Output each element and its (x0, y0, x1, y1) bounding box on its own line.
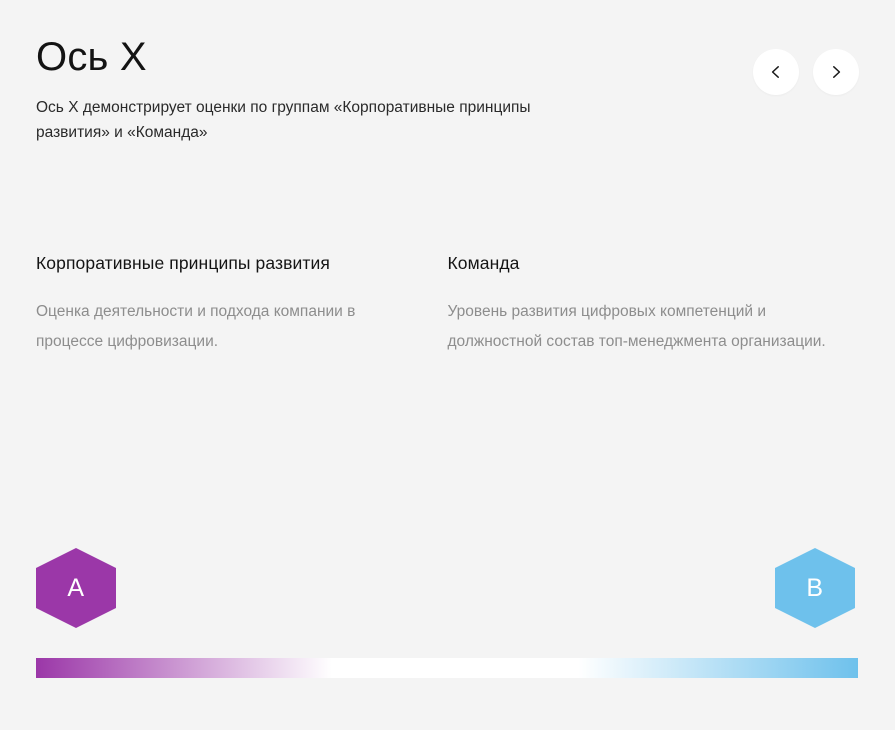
marker-label: B (806, 576, 823, 601)
chevron-right-icon (828, 64, 844, 80)
marker-hexagon-b: B (775, 548, 855, 628)
page-title: Ось X (36, 36, 859, 78)
marker-hexagon-a: A (36, 548, 116, 628)
slide-root: Ось X Ось X демонстрирует оценки по груп… (0, 0, 895, 730)
group-title: Команда (448, 252, 828, 275)
prev-button[interactable] (753, 49, 799, 95)
marker-label: A (67, 576, 84, 601)
chevron-left-icon (768, 64, 784, 80)
header: Ось X Ось X демонстрирует оценки по груп… (36, 36, 859, 145)
next-button[interactable] (813, 49, 859, 95)
group-column-team: Команда Уровень развития цифровых компет… (448, 252, 860, 358)
group-description: Уровень развития цифровых компетенций и … (448, 297, 828, 358)
gradient-scale-bar (36, 658, 858, 678)
axis-groups: Корпоративные принципы развития Оценка д… (36, 252, 859, 358)
group-description: Оценка деятельности и подхода компании в… (36, 297, 416, 358)
carousel-nav (753, 49, 859, 95)
page-subtitle: Ось X демонстрирует оценки по группам «К… (36, 95, 556, 145)
group-column-corporate-principles: Корпоративные принципы развития Оценка д… (36, 252, 448, 358)
group-title: Корпоративные принципы развития (36, 252, 416, 275)
